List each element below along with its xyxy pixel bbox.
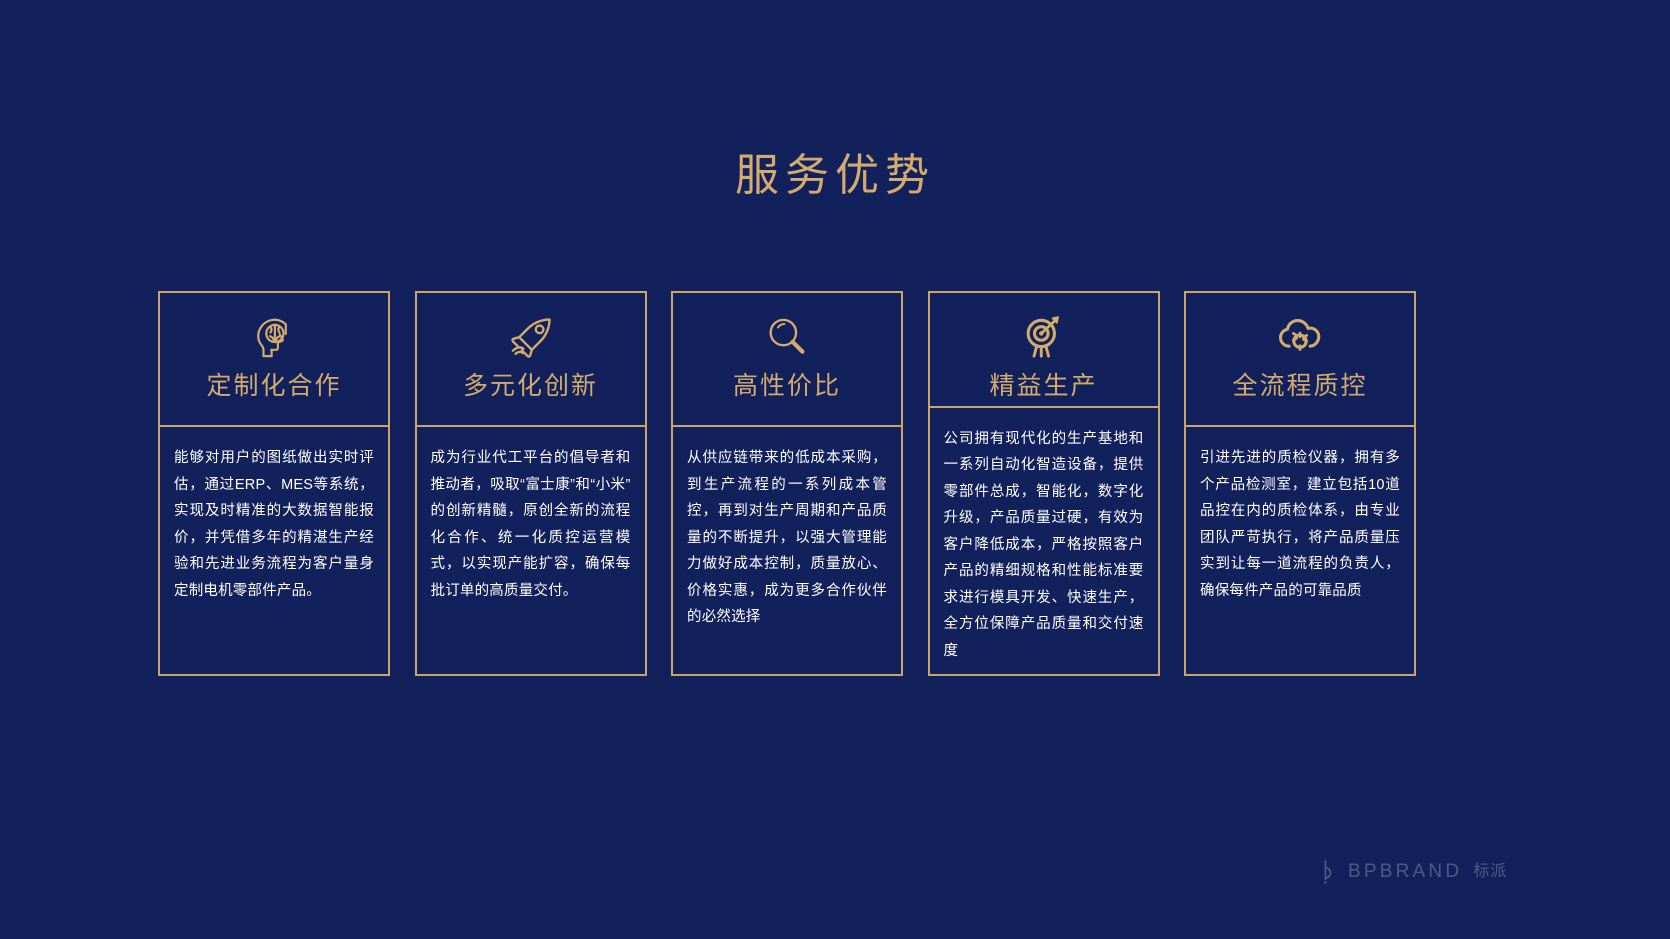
brain-head-icon [245,309,303,367]
target-dart-icon [1015,309,1073,367]
slide-canvas: 服务优势 定制化合作 能够对用户的图纸做出实时评估，通过ERP、MES等系统，实… [0,0,1670,939]
card-description: 公司拥有现代化的生产基地和一系列自动化智造设备，提供零部件总成，智能化，数字化升… [944,426,1144,665]
advantage-card[interactable]: 多元化创新 成为行业代工平台的倡导者和推动者，吸取“富士康”和“小米”的创新精髓… [415,291,647,676]
watermark-word: BPBRAND [1348,861,1462,883]
card-header: 高性价比 [671,291,903,427]
card-header: 全流程质控 [1184,291,1416,427]
cloud-gear-icon [1271,309,1329,367]
bp-b-logo-icon [1322,859,1339,885]
card-header: 定制化合作 [158,291,390,427]
advantage-card[interactable]: 精益生产 公司拥有现代化的生产基地和一系列自动化智造设备，提供零部件总成，智能化… [928,291,1160,676]
card-header: 精益生产 [928,291,1160,408]
card-description: 从供应链带来的低成本采购，到生产流程的一系列成本管控，再到对生产周期和产品质量的… [687,445,887,631]
card-title: 多元化创新 [463,369,598,403]
card-body: 成为行业代工平台的倡导者和推动者，吸取“富士康”和“小米”的创新精髓，原创全新的… [415,427,647,676]
card-description: 成为行业代工平台的倡导者和推动者，吸取“富士康”和“小米”的创新精髓，原创全新的… [431,445,631,604]
card-description: 能够对用户的图纸做出实时评估，通过ERP、MES等系统，实现及时精准的大数据智能… [174,445,374,604]
advantage-cards-row: 定制化合作 能够对用户的图纸做出实时评估，通过ERP、MES等系统，实现及时精准… [158,291,1416,676]
watermark-cn: 标派 [1473,861,1507,883]
card-body: 从供应链带来的低成本采购，到生产流程的一系列成本管控，再到对生产周期和产品质量的… [671,427,903,676]
card-title: 高性价比 [733,369,841,403]
magnifier-icon [758,309,816,367]
card-header: 多元化创新 [415,291,647,427]
rocket-icon [502,309,560,367]
card-title: 定制化合作 [206,369,341,403]
card-title: 全流程质控 [1232,369,1367,403]
card-body: 公司拥有现代化的生产基地和一系列自动化智造设备，提供零部件总成，智能化，数字化升… [928,408,1160,677]
advantage-card[interactable]: 全流程质控 引进先进的质检仪器，拥有多个产品检测室，建立包括10道品控在内的质检… [1184,291,1416,676]
card-description: 引进先进的质检仪器，拥有多个产品检测室，建立包括10道品控在内的质检体系，由专业… [1200,445,1400,604]
page-title: 服务优势 [0,148,1670,204]
watermark: BPBRAND 标派 [1322,859,1507,885]
advantage-card[interactable]: 定制化合作 能够对用户的图纸做出实时评估，通过ERP、MES等系统，实现及时精准… [158,291,390,676]
card-title: 精益生产 [989,369,1097,403]
card-body: 引进先进的质检仪器，拥有多个产品检测室，建立包括10道品控在内的质检体系，由专业… [1184,427,1416,676]
card-body: 能够对用户的图纸做出实时评估，通过ERP、MES等系统，实现及时精准的大数据智能… [158,427,390,676]
advantage-card[interactable]: 高性价比 从供应链带来的低成本采购，到生产流程的一系列成本管控，再到对生产周期和… [671,291,903,676]
